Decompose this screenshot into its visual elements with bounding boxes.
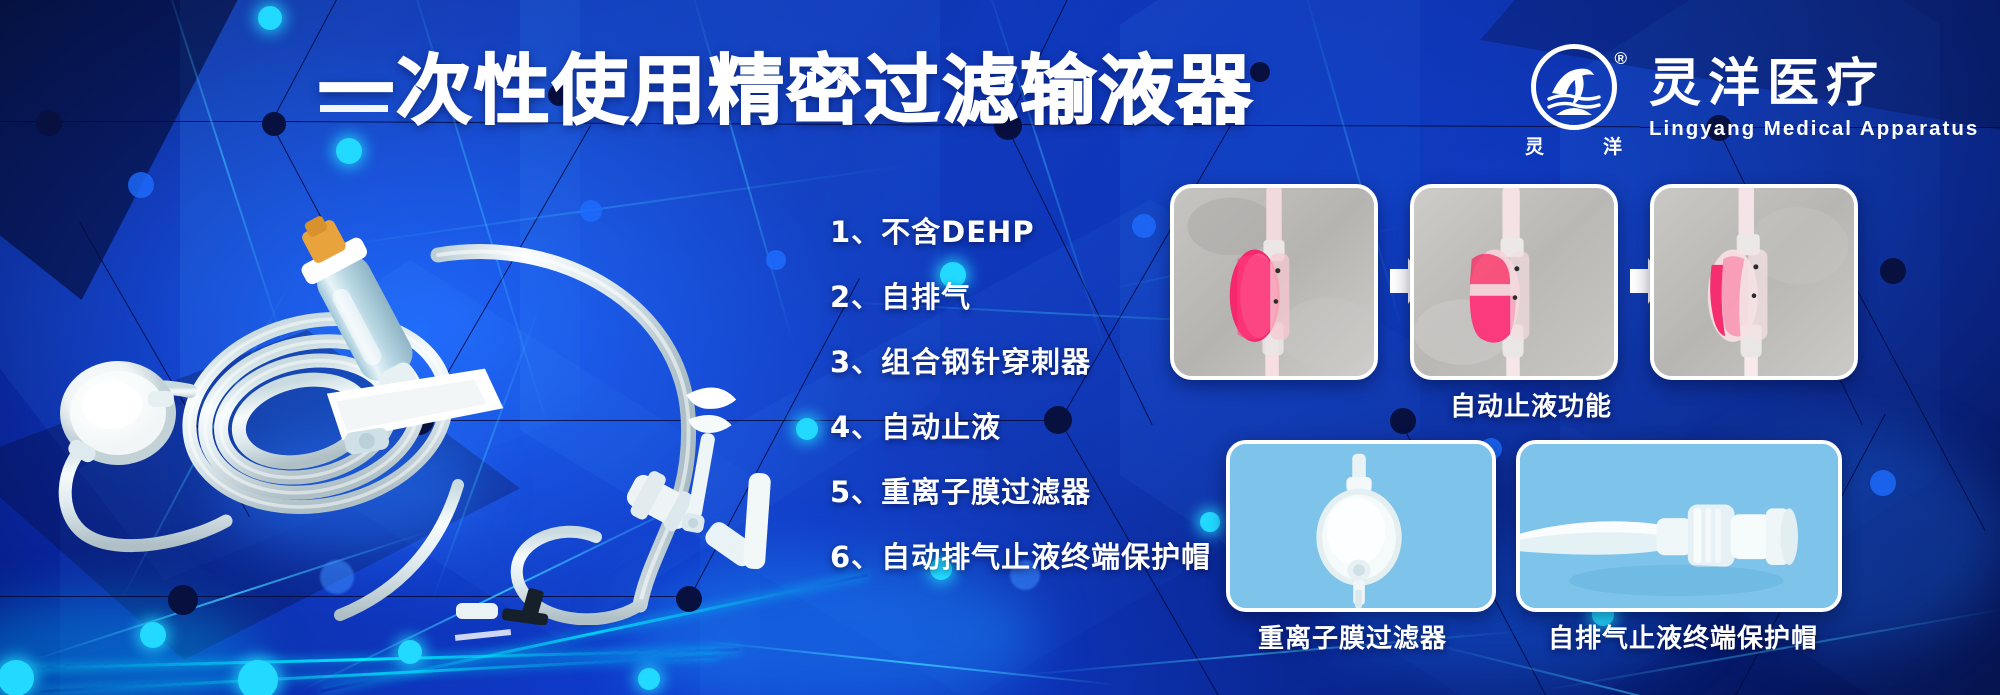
feature-item-4: 4、自动止液: [830, 413, 1211, 442]
product-photo: [40, 185, 780, 625]
sequence-caption: 自动止液功能: [1450, 392, 1612, 422]
panel-caption-filter: 重离子膜过滤器: [1258, 624, 1447, 654]
panel-photo-cap: [1516, 440, 1842, 612]
feature-item-2: 2、自排气: [830, 283, 1211, 312]
logo-sub-left: 灵: [1525, 132, 1545, 159]
registered-trademark-icon: ®: [1614, 50, 1627, 67]
logo-circle-icon: [1531, 44, 1617, 130]
logo-sub-right: 洋: [1603, 132, 1623, 159]
panel-photo-filter: [1226, 440, 1496, 612]
feature-item-6: 6、自动排气止液终端保护帽: [830, 543, 1211, 572]
feature-item-5: 5、重离子膜过滤器: [830, 478, 1211, 507]
brand-name-cn: 灵洋医疗: [1649, 54, 1979, 114]
feature-item-1: 1、不含DEHP: [830, 218, 1211, 247]
brand-name-en: Lingyang Medical Apparatus: [1649, 116, 1979, 142]
feature-item-3: 3、组合钢针穿刺器: [830, 348, 1211, 377]
panel-caption-cap: 自排气止液终端保护帽: [1548, 624, 1818, 654]
sequence-photo-1: [1170, 184, 1378, 380]
sequence-photo-2: [1410, 184, 1618, 380]
sequence-photo-3: [1650, 184, 1858, 380]
feature-list: 1、不含DEHP 2、自排气 3、组合钢针穿刺器 4、自动止液 5、重离子膜过滤…: [830, 218, 1211, 572]
brand-logo: ® 灵 洋 灵洋医疗 Lingyang Medical Apparatus: [1525, 44, 1979, 152]
logo-mark-icon: ® 灵 洋: [1525, 44, 1623, 152]
page-title: 一次性使用精密过滤输液器: [318, 48, 1254, 134]
banner-root: 一次性使用精密过滤输液器 ® 灵 洋 灵洋医疗 Lingyang Medical…: [0, 0, 2000, 695]
